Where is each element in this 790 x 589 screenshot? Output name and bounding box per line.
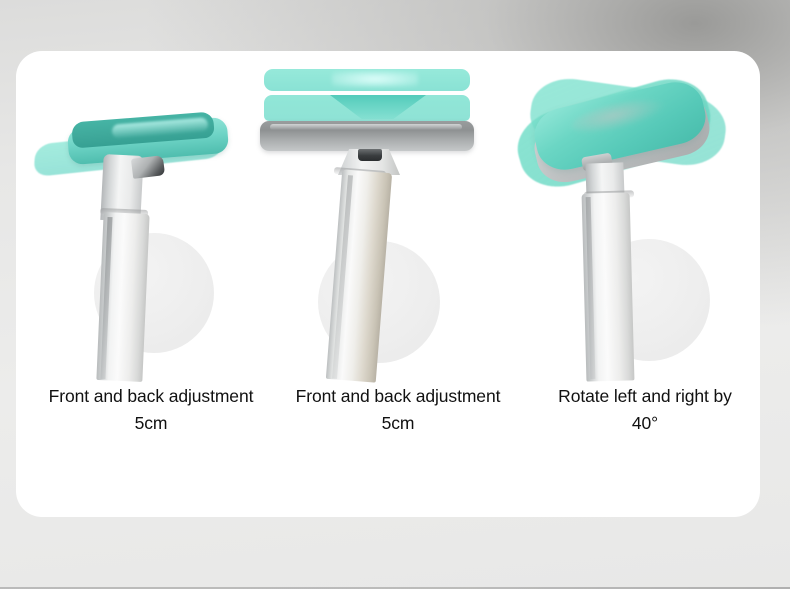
armrest-release-clip-icon <box>358 149 382 161</box>
caption-line-primary: Front and back adjustment <box>278 383 518 410</box>
caption-line-value: 5cm <box>26 410 276 437</box>
caption-armrest-rotate-view: Rotate left and right by 40° <box>530 383 760 437</box>
caption-line-value: 5cm <box>278 410 518 437</box>
caption-line-primary: Rotate left and right by <box>530 383 760 410</box>
armrest-front-view-figure <box>260 51 508 381</box>
armrest-side-view-figure <box>16 51 264 381</box>
armrest-base-highlight-icon <box>270 124 462 130</box>
caption-line-value: 40° <box>530 410 760 437</box>
armrest-rotate-view-figure <box>508 51 756 381</box>
figure-row <box>16 51 760 381</box>
caption-armrest-front-view: Front and back adjustment 5cm <box>278 383 518 437</box>
armrest-adjust-lever-icon <box>131 155 165 179</box>
white-content-card: Front and back adjustment 5cm Front and … <box>16 51 760 517</box>
caption-line-primary: Front and back adjustment <box>26 383 276 410</box>
armrest-pad-glow-icon <box>332 71 418 87</box>
caption-row: Front and back adjustment 5cm Front and … <box>16 383 760 437</box>
caption-armrest-side-view: Front and back adjustment 5cm <box>26 383 276 437</box>
product-feature-panel: Front and back adjustment 5cm Front and … <box>0 0 790 589</box>
